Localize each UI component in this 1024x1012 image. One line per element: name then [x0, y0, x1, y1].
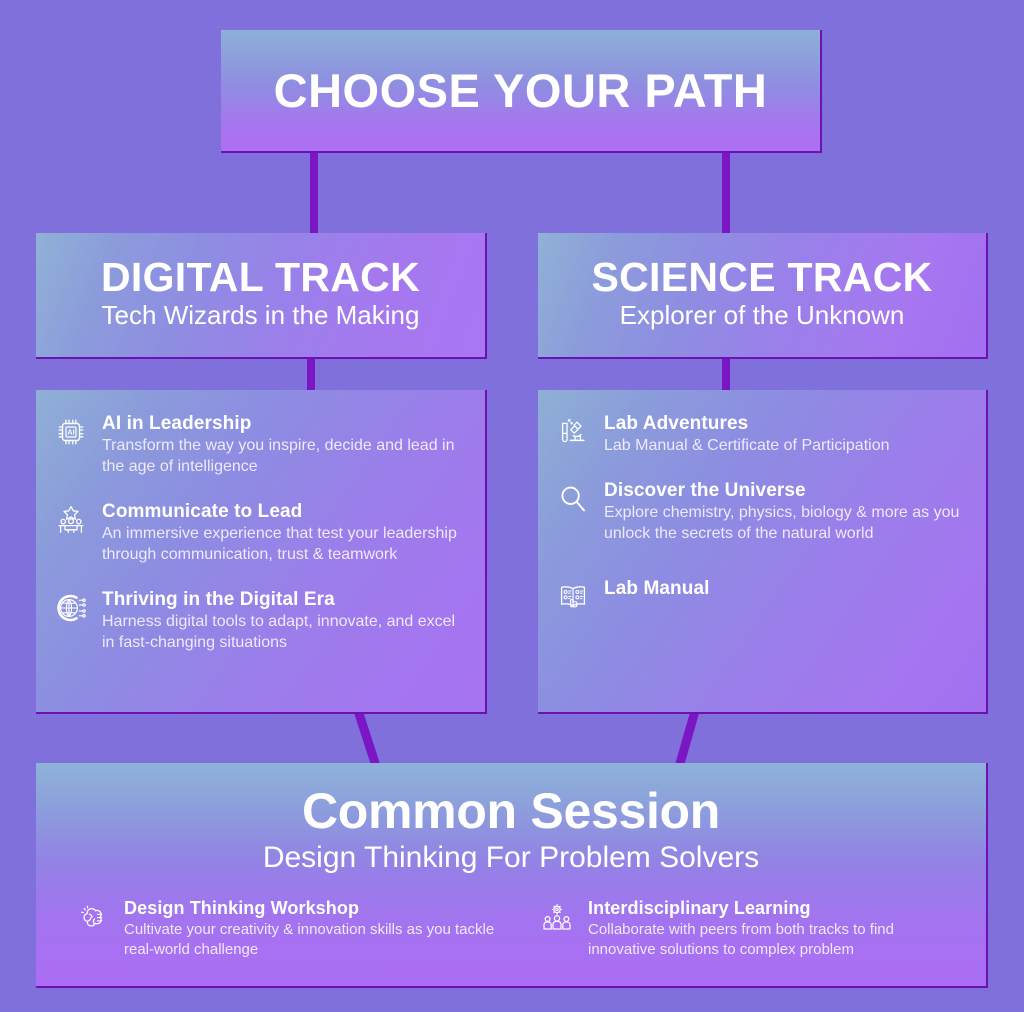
connector-science-to-common	[675, 705, 701, 767]
list-item-title: Communicate to Lead	[102, 501, 302, 522]
list-item-desc: Cultivate your creativity & innovation s…	[124, 920, 496, 959]
common-session-card: Common Session Design Thinking For Probl…	[36, 763, 988, 988]
list-item[interactable]: Interdisciplinary Learning Collaborate w…	[540, 898, 960, 960]
list-item-title: Discover the Universe	[604, 480, 806, 501]
svg-text:AI: AI	[67, 428, 74, 437]
list-item-text: Design Thinking Workshop Cultivate your …	[124, 898, 496, 960]
list-item-text: Discover the Universe Explore chemistry,…	[604, 479, 966, 545]
list-item[interactable]: Lab Adventures Lab Manual & Certificate …	[556, 412, 966, 457]
list-item-desc: Harness digital tools to adapt, innovate…	[102, 612, 465, 654]
list-item[interactable]: Communicate to Lead An immersive experie…	[54, 500, 465, 566]
science-track-header[interactable]: SCIENCE TRACK Explorer of the Unknown	[538, 233, 988, 359]
science-track-body: Lab Adventures Lab Manual & Certificate …	[538, 390, 988, 714]
list-item-title: AI in Leadership	[102, 413, 251, 434]
list-item-title: Lab Manual	[604, 578, 710, 599]
brain-idea-icon	[76, 901, 110, 935]
common-session-subtitle: Design Thinking For Problem Solvers	[36, 840, 986, 876]
list-item[interactable]: Thriving in the Digital Era Harness digi…	[54, 588, 465, 654]
list-item-desc: Explore chemistry, physics, biology & mo…	[604, 503, 966, 545]
microscope-test-tube-icon	[556, 415, 590, 449]
digital-track-title: DIGITAL TRACK	[101, 255, 420, 299]
digital-track-subtitle: Tech Wizards in the Making	[102, 300, 420, 331]
connector-hero-to-science	[722, 150, 730, 238]
list-item-title: Design Thinking Workshop	[124, 898, 359, 918]
list-item-text: Thriving in the Digital Era Harness digi…	[102, 588, 465, 654]
list-item-desc: Collaborate with peers from both tracks …	[588, 920, 960, 959]
page-title: CHOOSE YOUR PATH	[274, 63, 768, 118]
list-item-text: Interdisciplinary Learning Collaborate w…	[588, 898, 960, 960]
list-item-title: Interdisciplinary Learning	[588, 898, 811, 918]
globe-gear-circuit-icon	[54, 591, 88, 625]
list-item-title: Lab Adventures	[604, 413, 748, 434]
list-item-text: Lab Manual	[604, 577, 966, 600]
list-item[interactable]: Lab Manual	[556, 577, 966, 614]
list-item-desc: Lab Manual & Certificate of Participatio…	[604, 436, 966, 457]
list-item-desc: Transform the way you inspire, decide an…	[102, 436, 465, 478]
connector-hero-to-digital	[310, 150, 318, 238]
list-item-title: Thriving in the Digital Era	[102, 589, 335, 610]
common-session-items: Design Thinking Workshop Cultivate your …	[36, 876, 986, 960]
science-track-subtitle: Explorer of the Unknown	[620, 300, 905, 331]
digital-track-header[interactable]: DIGITAL TRACK Tech Wizards in the Making	[36, 233, 487, 359]
hero-banner: CHOOSE YOUR PATH	[221, 30, 822, 153]
list-item-text: AI in Leadership Transform the way you i…	[102, 412, 465, 478]
common-session-title: Common Session	[36, 785, 986, 838]
people-gear-icon	[540, 901, 574, 935]
digital-track-body: AI AI in Leadership Transform the way yo…	[36, 390, 487, 714]
list-item[interactable]: Design Thinking Workshop Cultivate your …	[76, 898, 496, 960]
list-item-desc: An immersive experience that test your l…	[102, 524, 465, 566]
science-track-title: SCIENCE TRACK	[591, 255, 932, 299]
team-meeting-icon	[54, 503, 88, 537]
list-item-text: Lab Adventures Lab Manual & Certificate …	[604, 412, 966, 457]
common-session-header: Common Session Design Thinking For Probl…	[36, 763, 986, 876]
open-book-hand-icon	[556, 580, 590, 614]
list-item[interactable]: AI AI in Leadership Transform the way yo…	[54, 412, 465, 478]
list-item[interactable]: Discover the Universe Explore chemistry,…	[556, 479, 966, 545]
magnifying-glass-icon	[556, 482, 590, 516]
diagram-canvas: CHOOSE YOUR PATH DIGITAL TRACK Tech Wiza…	[0, 0, 1024, 1012]
list-item-text: Communicate to Lead An immersive experie…	[102, 500, 465, 566]
ai-chip-icon: AI	[54, 415, 88, 449]
